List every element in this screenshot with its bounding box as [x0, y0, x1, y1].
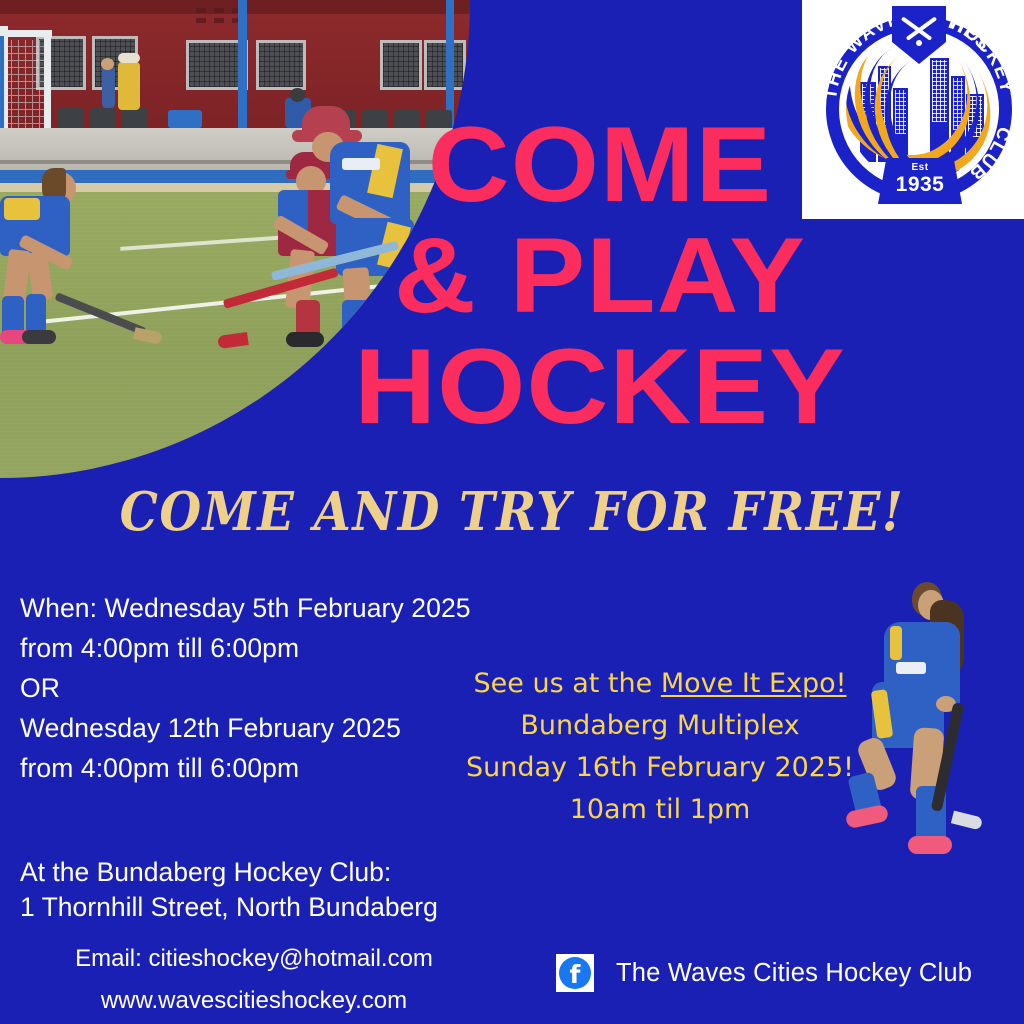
footer: f The Waves Cities Hockey Club — [556, 950, 1016, 996]
support-post — [238, 0, 247, 128]
headline: COME & PLAY HOCKEY — [330, 112, 870, 439]
logo-est-year: 1935 — [878, 174, 962, 196]
logo-est-label: Est — [878, 158, 962, 174]
spectator-head — [290, 88, 305, 102]
spectator-hat — [118, 53, 140, 63]
poster-canvas: THE WAVES CITIES HOCKEY CLUB — [0, 0, 1024, 1024]
player-jersey-stripe — [4, 198, 40, 220]
headline-line-3: HOCKEY — [314, 334, 886, 439]
clubhouse-window — [424, 40, 466, 90]
contact-website[interactable]: www.wavescitieshockey.com — [24, 980, 484, 1022]
expo-line-3: Sunday 16th February 2025! — [455, 747, 865, 789]
when-line-2: from 4:00pm till 6:00pm — [20, 628, 540, 668]
expo-line-2: Bundaberg Multiplex — [455, 705, 865, 747]
spectator-head — [101, 58, 114, 70]
when-line-1: When: Wednesday 5th February 2025 — [20, 588, 540, 628]
shield-ball — [916, 40, 922, 46]
cutout-sponsor-patch — [896, 662, 926, 674]
cutout-hockey-stick-head — [951, 811, 983, 831]
goal-crossbar — [0, 30, 52, 37]
stadium-seat — [58, 108, 84, 128]
player-shoe — [22, 330, 56, 344]
expo-link-move-it-expo[interactable]: Move It Expo! — [661, 668, 847, 699]
stadium-seat — [122, 108, 148, 128]
contact-block: Email: citieshockey@hotmail.com www.wave… — [24, 938, 484, 1022]
clubhouse-window — [256, 40, 306, 90]
venue-line-1: At the Bundaberg Hockey Club: — [20, 855, 560, 890]
expo-line-1-prefix: See us at the — [474, 668, 661, 699]
wall-vent — [196, 8, 206, 13]
cutout-jersey-stripe — [890, 626, 902, 660]
cutout-player-photo — [856, 578, 1016, 878]
wall-vent — [214, 8, 224, 13]
headline-line-2: & PLAY — [314, 223, 886, 328]
contact-email[interactable]: Email: citieshockey@hotmail.com — [24, 938, 484, 980]
facebook-page-name: The Waves Cities Hockey Club — [616, 959, 972, 988]
tagline: COME AND TRY FOR FREE! — [0, 481, 1024, 544]
clubhouse-window — [380, 40, 422, 90]
wall-vent — [214, 18, 224, 23]
shield-hockey-stick — [906, 16, 937, 40]
facebook-icon-glyph: f — [570, 962, 581, 987]
headline-line-1: COME — [314, 112, 886, 217]
expo-line-4: 10am til 1pm — [455, 789, 865, 831]
facebook-icon-circle: f — [559, 957, 591, 989]
cutout-shoe-front — [908, 836, 952, 854]
spectator — [118, 62, 140, 110]
spectator — [102, 66, 115, 108]
stadium-seat — [90, 108, 116, 128]
wall-vent — [196, 18, 206, 23]
venue-block: At the Bundaberg Hockey Club: 1 Thornhil… — [20, 855, 560, 925]
facebook-icon[interactable]: f — [556, 954, 594, 992]
equipment-bin — [168, 110, 202, 128]
player-sock — [26, 294, 46, 334]
expo-line-1: See us at the Move It Expo! — [455, 663, 865, 705]
venue-line-2: 1 Thornhill Street, North Bundaberg — [20, 890, 560, 925]
expo-block: See us at the Move It Expo! Bundaberg Mu… — [455, 663, 865, 831]
logo-est-banner: Est 1935 — [878, 158, 962, 204]
clubhouse-wall-shadow — [0, 0, 520, 14]
